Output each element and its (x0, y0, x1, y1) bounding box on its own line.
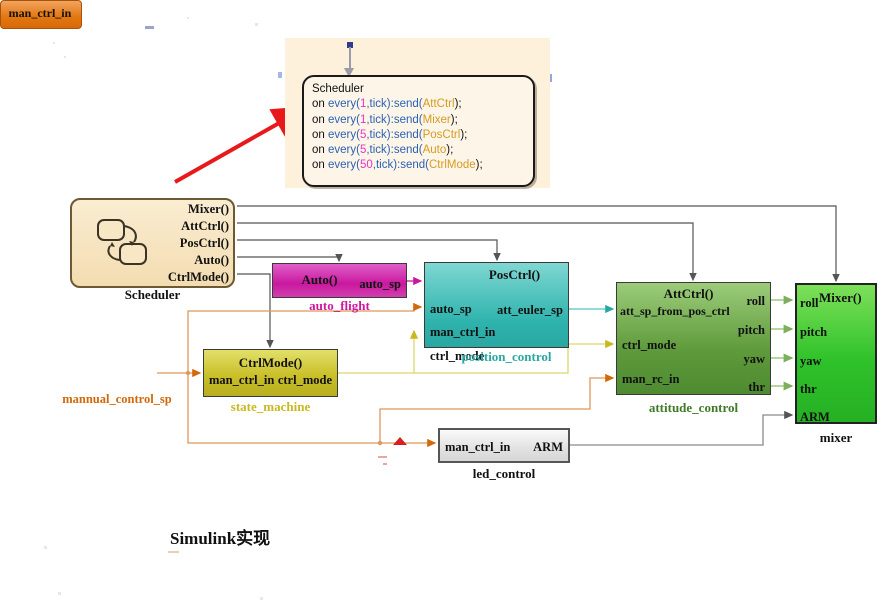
line-suffix: ); (460, 129, 467, 141)
line-prefix: on (312, 98, 328, 110)
line-event: CtrlMode (429, 159, 476, 171)
block-scheduler[interactable]: Mixer() AttCtrl() PosCtrl() Auto() CtrlM… (70, 198, 235, 288)
line-mid: ,tick):send( (366, 129, 422, 141)
line-prefix: on (312, 114, 328, 126)
attitude-control-output-thr: thr (748, 380, 765, 395)
scheduler-output-attctrl: AttCtrl() (181, 219, 229, 234)
caption-state-machine: state_machine (203, 399, 338, 415)
mixer-input-pitch: pitch (800, 325, 827, 340)
attitude-control-input-ctrl-mode: ctrl_mode (622, 338, 676, 353)
caption-attitude-control: attitude_control (616, 400, 771, 416)
line-suffix: ); (446, 144, 453, 156)
scheduler-state-box[interactable]: Scheduler on every(1,tick):send(AttCtrl)… (302, 75, 535, 187)
state-machine-fn-label: CtrlMode() (204, 355, 337, 371)
line-keyword: every( (328, 98, 360, 110)
line-mid: ,tick):send( (366, 144, 422, 156)
line-keyword: every( (328, 129, 360, 141)
block-led-control[interactable]: man_ctrl_in ARM (438, 428, 570, 463)
line-prefix: on (312, 144, 328, 156)
stateflow-chart-icon (90, 214, 160, 276)
state-action-line: on every(5,tick):send(PosCtrl); (312, 128, 529, 143)
block-mixer[interactable]: Mixer() roll pitch yaw thr ARM (795, 283, 877, 424)
figure-caption: Simulink实现 (170, 524, 270, 549)
mannual-control-sp-label: man_ctrl_in (0, 6, 80, 21)
attitude-control-input-att-sp: att_sp_from_pos_ctrl (620, 304, 730, 319)
mixer-input-roll: roll (800, 296, 819, 311)
line-event: Mixer (423, 114, 451, 126)
line-number: 50 (360, 159, 373, 171)
attitude-control-output-yaw: yaw (743, 352, 765, 367)
scan-speck (278, 72, 282, 78)
scan-speck (168, 551, 179, 553)
caption-mannual-control-sp: mannual_control_sp (57, 392, 177, 407)
line-prefix: on (312, 159, 328, 171)
position-control-output-att-euler-sp: att_euler_sp (497, 303, 563, 318)
line-event: PosCtrl (423, 129, 461, 141)
scheduler-output-ctrlmode: CtrlMode() (168, 270, 229, 285)
scan-speck (53, 42, 55, 44)
mixer-input-thr: thr (800, 382, 817, 397)
position-control-input-auto-sp: auto_sp (430, 302, 472, 317)
scheduler-output-auto: Auto() (194, 253, 229, 268)
scan-speck (44, 546, 47, 549)
auto-flight-output-auto-sp: auto_sp (359, 277, 401, 292)
diagram-canvas: Scheduler on every(1,tick):send(AttCtrl)… (0, 0, 887, 612)
attitude-control-input-man-rc-in: man_rc_in (622, 372, 679, 387)
line-keyword: every( (328, 159, 360, 171)
scheduler-output-posctrl: PosCtrl() (180, 236, 229, 251)
block-mannual-control-sp[interactable]: man_ctrl_in (0, 0, 82, 29)
scan-speck (255, 23, 258, 26)
led-control-input-man-ctrl-in: man_ctrl_in (445, 440, 510, 455)
line-event: AttCtrl (423, 98, 455, 110)
led-control-output-arm: ARM (533, 440, 563, 455)
mixer-input-arm: ARM (800, 410, 830, 425)
caption-mixer: mixer (795, 430, 877, 446)
block-state-machine[interactable]: CtrlMode() man_ctrl_in ctrl_mode (203, 349, 338, 397)
block-position-control[interactable]: PosCtrl() auto_sp man_ctrl_in ctrl_mode … (424, 262, 569, 348)
position-control-fn-label: PosCtrl() (443, 267, 586, 283)
line-suffix: ); (455, 98, 462, 110)
scan-speck (383, 463, 387, 465)
state-action-line: on every(5,tick):send(Auto); (312, 143, 529, 158)
line-suffix: ); (451, 114, 458, 126)
scan-speck (260, 597, 263, 600)
line-mid: ,tick):send( (366, 114, 422, 126)
position-control-input-man-ctrl-in: man_ctrl_in (430, 325, 495, 340)
mixer-input-yaw: yaw (800, 354, 822, 369)
state-action-line: on every(1,tick):send(Mixer); (312, 113, 529, 128)
attitude-control-output-pitch: pitch (738, 323, 765, 338)
line-suffix: ); (476, 159, 483, 171)
attitude-control-output-roll: roll (746, 294, 765, 309)
state-machine-output-ctrl-mode: ctrl_mode (278, 373, 332, 388)
line-mid: ,tick):send( (373, 159, 429, 171)
block-attitude-control[interactable]: AttCtrl() att_sp_from_pos_ctrl ctrl_mode… (616, 282, 771, 395)
scheduler-output-mixer: Mixer() (188, 202, 229, 217)
state-name: Scheduler (312, 82, 529, 97)
scan-speck (145, 26, 154, 29)
scan-speck (378, 456, 387, 458)
caption-position-control: position_control (424, 349, 589, 365)
state-machine-input-man-ctrl-in: man_ctrl_in (209, 373, 274, 388)
line-prefix: on (312, 129, 328, 141)
caption-led-control: led_control (438, 466, 570, 482)
state-action-line: on every(1,tick):send(AttCtrl); (312, 97, 529, 112)
state-action-line: on every(50,tick):send(CtrlMode); (312, 158, 529, 173)
line-event: Auto (423, 144, 447, 156)
caption-scheduler: Scheduler (70, 287, 235, 303)
line-keyword: every( (328, 114, 360, 126)
line-keyword: every( (328, 144, 360, 156)
attitude-control-fn-label: AttCtrl() (612, 286, 765, 302)
scan-speck (58, 592, 61, 595)
scheduler-state-text: Scheduler on every(1,tick):send(AttCtrl)… (312, 82, 529, 174)
block-auto-flight[interactable]: Auto() auto_sp (272, 263, 407, 298)
line-mid: ,tick):send( (366, 98, 422, 110)
scan-speck (187, 17, 189, 19)
mixer-fn-label: Mixer() (819, 290, 862, 306)
scan-speck (64, 56, 66, 58)
caption-auto-flight: auto_flight (272, 298, 407, 314)
